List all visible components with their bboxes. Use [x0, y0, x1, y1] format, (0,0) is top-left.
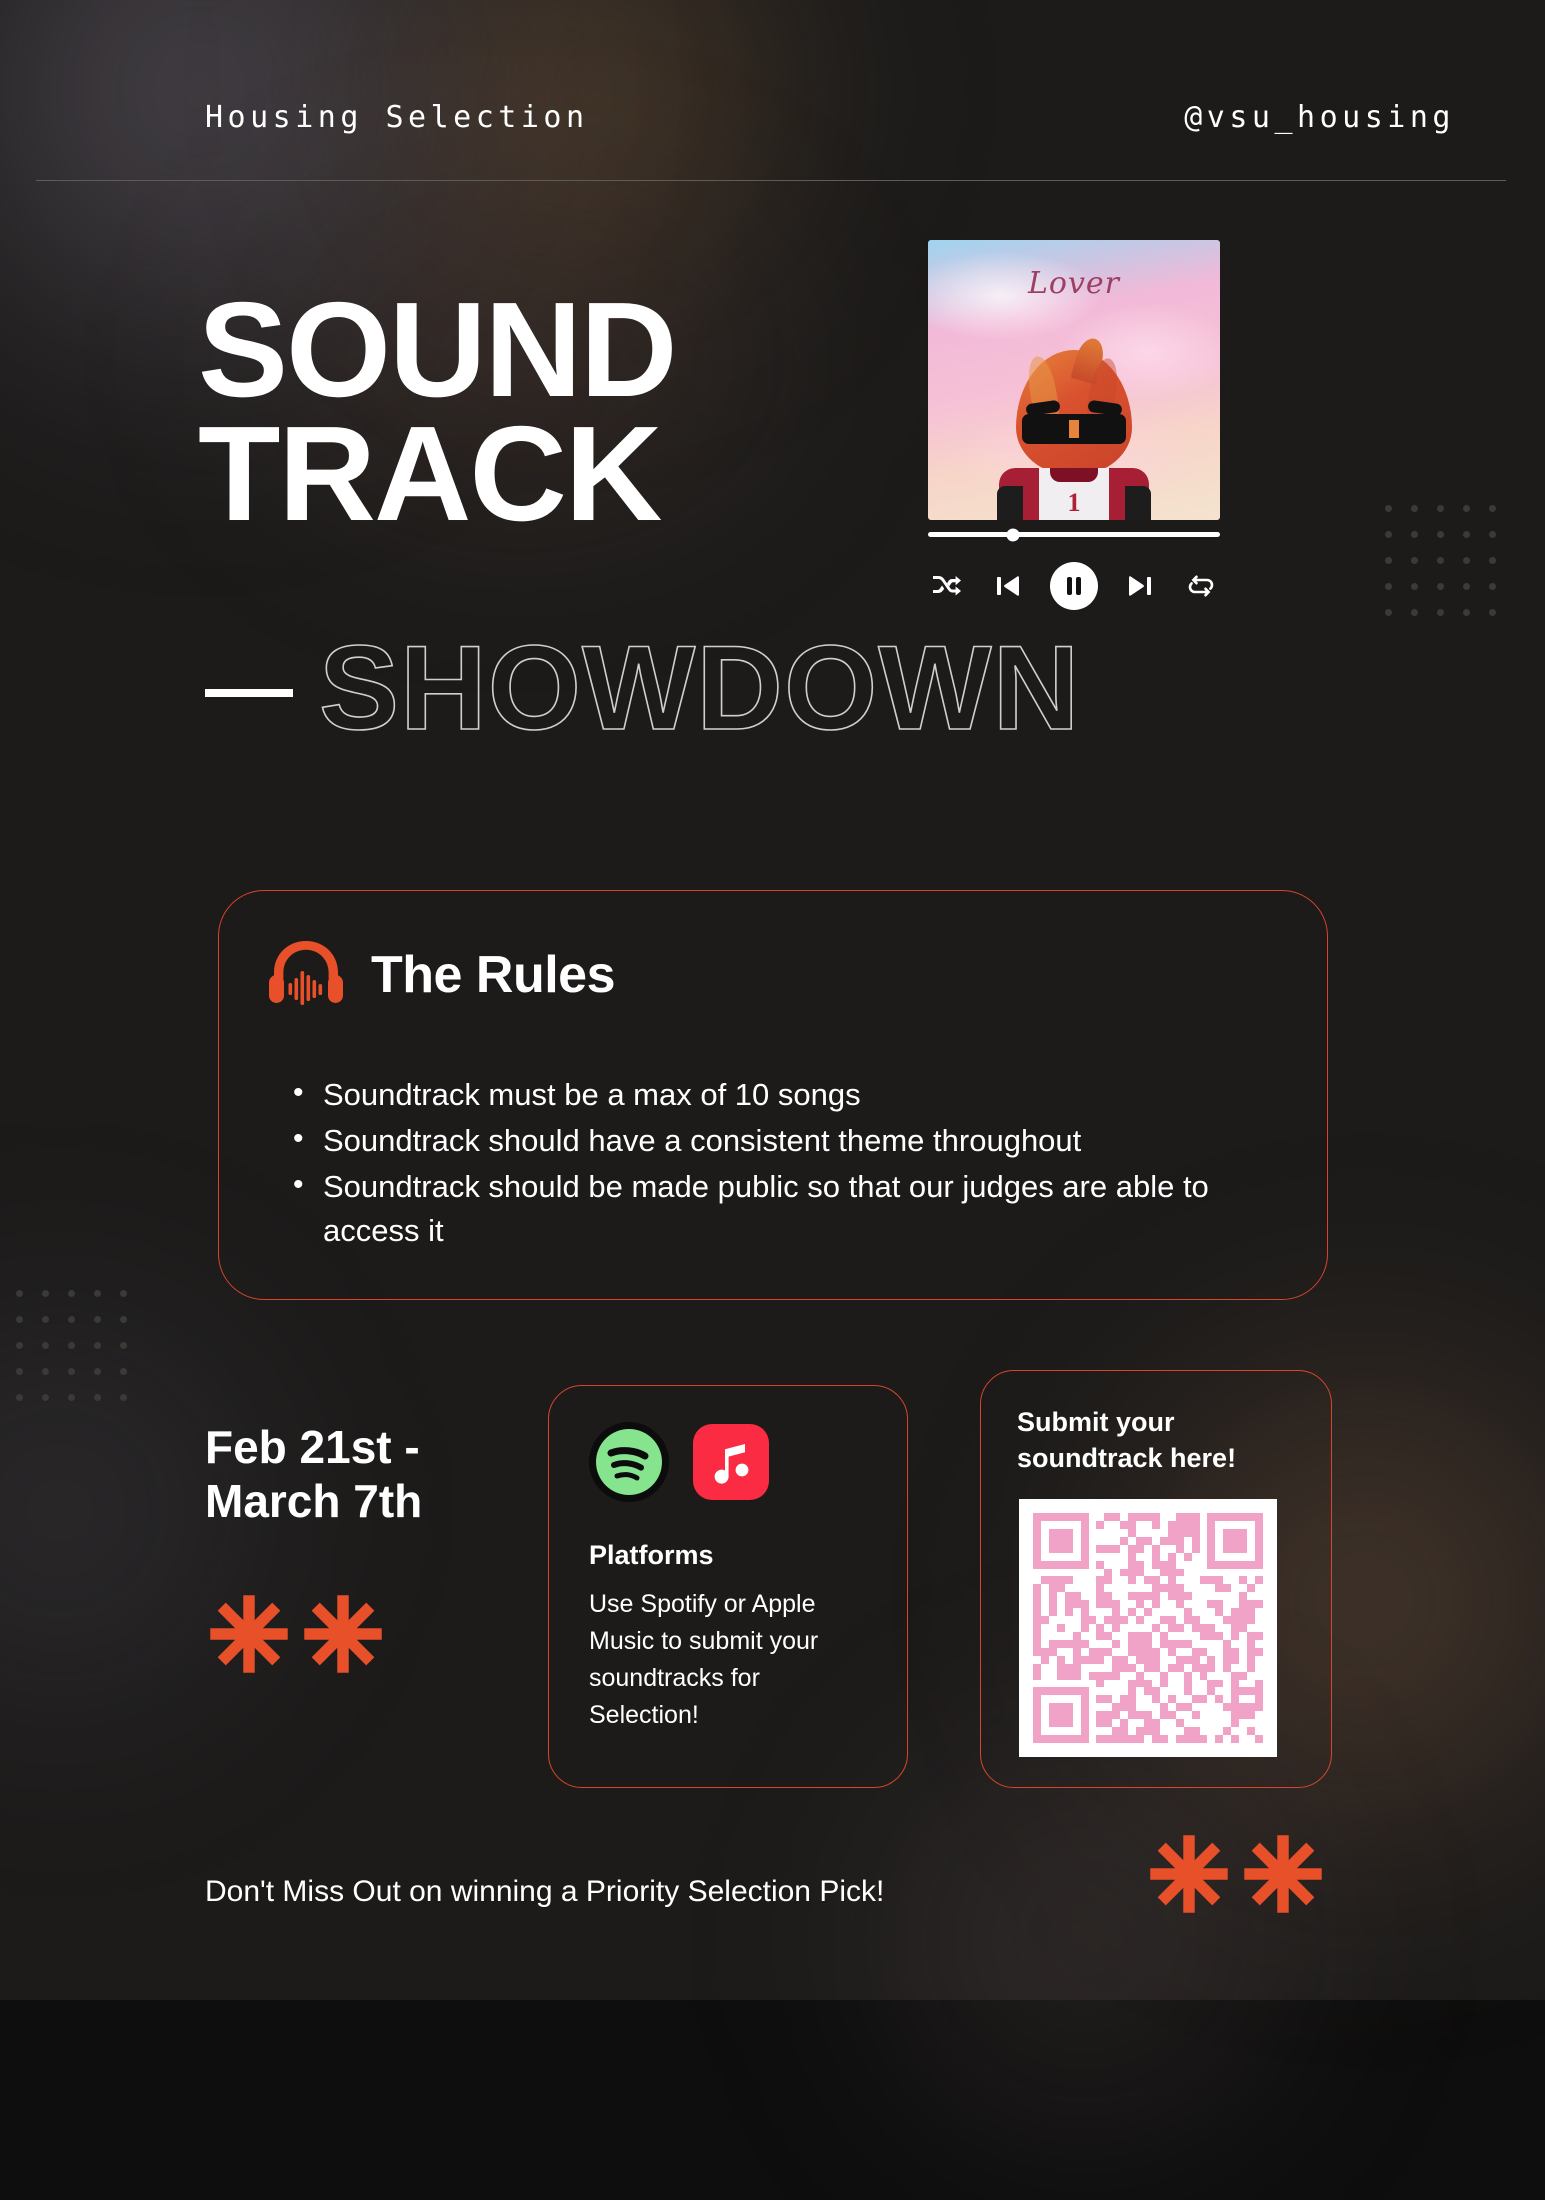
platforms-card: Platforms Use Spotify or Apple Music to … [548, 1385, 908, 1788]
rules-list-item: Soundtrack must be a max of 10 songs [271, 1073, 1271, 1117]
footer-text: Don't Miss Out on winning a Priority Sel… [205, 1875, 884, 1909]
asterisk-icon [299, 1590, 387, 1678]
submit-title: Submit your soundtrack here! [1017, 1405, 1287, 1477]
rules-list: Soundtrack must be a max of 10 songsSoun… [271, 1073, 1271, 1255]
poster-header: Housing Selection @vsu_housing [205, 100, 1455, 135]
asterisk-decoration-right [1145, 1830, 1327, 1918]
rules-title: The Rules [371, 945, 615, 1005]
rules-card: The Rules Soundtrack must be a max of 10… [218, 890, 1328, 1300]
asterisk-icon [1239, 1830, 1327, 1918]
rules-list-item: Soundtrack should have a consistent them… [271, 1119, 1271, 1163]
progress-knob[interactable] [1006, 528, 1019, 541]
qr-code[interactable] [1019, 1499, 1277, 1757]
playback-progress-bar[interactable] [928, 532, 1220, 537]
next-icon[interactable] [1121, 567, 1159, 605]
asterisk-icon [205, 1590, 293, 1678]
header-left-label: Housing Selection [205, 100, 589, 135]
title-line-showdown: SHOWDOWN [319, 628, 1080, 748]
title-showdown-row: SHOWDOWN [205, 628, 1080, 748]
album-artwork: Lover 1 [928, 240, 1220, 520]
pause-icon[interactable] [1050, 562, 1098, 610]
rules-header: The Rules [267, 939, 615, 1010]
music-player: Lover 1 [928, 240, 1220, 520]
previous-icon[interactable] [989, 567, 1027, 605]
title-line-track: TRACK [198, 412, 676, 536]
platforms-title: Platforms [589, 1540, 714, 1571]
headphones-icon [267, 939, 345, 1010]
album-mascot-figure: 1 [999, 340, 1149, 520]
platform-icons [589, 1422, 769, 1502]
title-line-sound: SOUND [198, 288, 676, 412]
submit-card: Submit your soundtrack here! [980, 1370, 1332, 1788]
sunglasses-icon [1022, 414, 1126, 444]
platforms-body: Use Spotify or Apple Music to submit you… [589, 1586, 861, 1734]
spotify-icon[interactable] [589, 1422, 669, 1502]
header-divider [36, 180, 1506, 181]
date-line-1: Feb 21st - [205, 1420, 505, 1474]
page-title: SOUND TRACK [198, 288, 676, 536]
repeat-icon[interactable] [1182, 567, 1220, 605]
asterisk-decoration-left [205, 1590, 387, 1678]
title-dash [205, 689, 293, 697]
apple-music-icon[interactable] [693, 1424, 769, 1500]
jersey-number: 1 [1068, 488, 1081, 518]
date-line-2: March 7th [205, 1474, 505, 1528]
player-controls [928, 562, 1220, 610]
asterisk-icon [1145, 1830, 1233, 1918]
event-dates: Feb 21st - March 7th [205, 1420, 505, 1529]
rules-list-item: Soundtrack should be made public so that… [271, 1165, 1271, 1253]
header-handle: @vsu_housing [1184, 100, 1455, 135]
shuffle-icon[interactable] [928, 567, 966, 605]
album-title-script: Lover [928, 266, 1220, 301]
